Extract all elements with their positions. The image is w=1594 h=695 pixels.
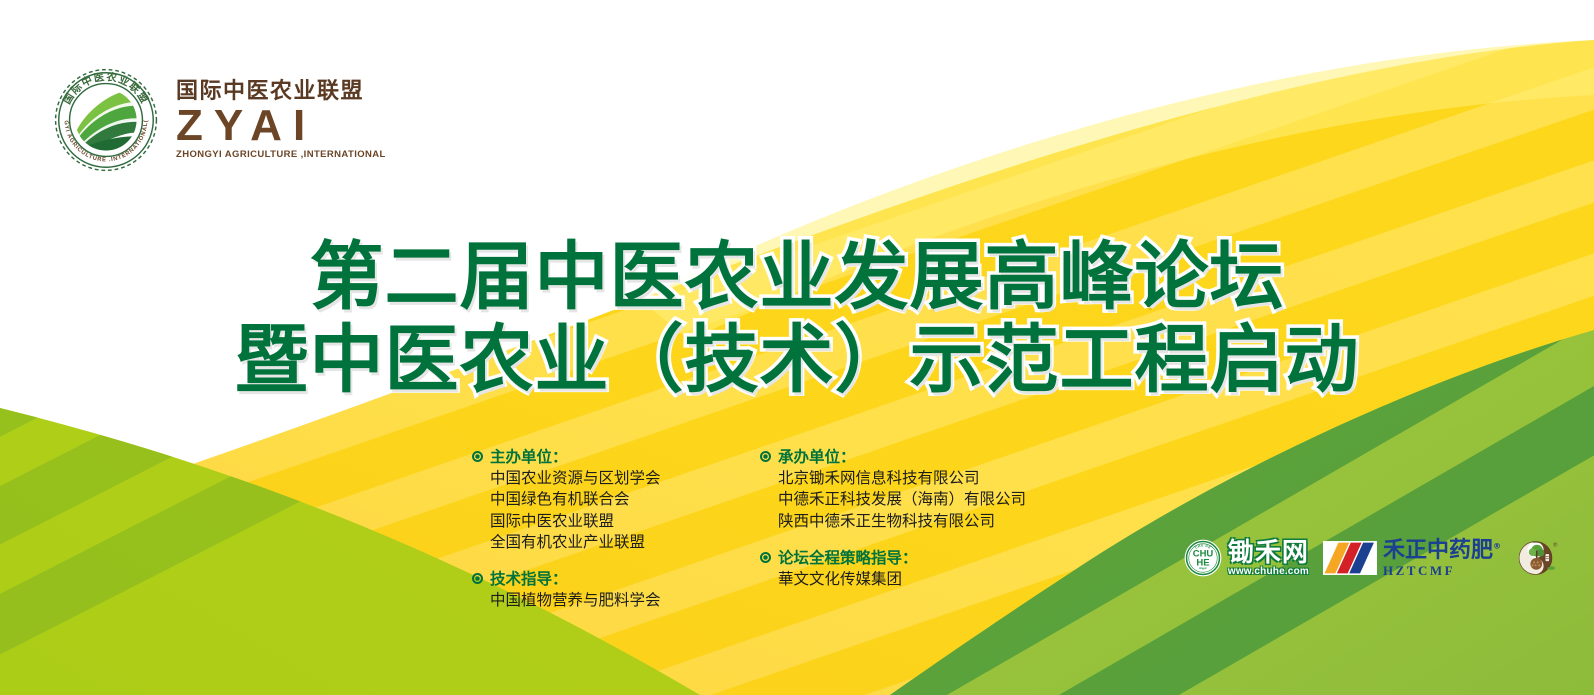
bullet-icon: [472, 573, 483, 584]
logo-acronym: ZYAI: [176, 105, 386, 147]
detail-heading-text: 承办单位：: [778, 447, 856, 468]
sponsor-chuhe[interactable]: CHU HE WWW CHU HE 锄禾网 www.chuhe.com: [1184, 539, 1309, 577]
list-item: 中国农业资源与区划学会: [490, 468, 744, 489]
detail-heading-text: 论坛全程策略指导：: [778, 548, 918, 569]
chuhe-circle-badge-icon: CHU HE WWW CHU HE: [1184, 539, 1222, 577]
hztcmf-stripe-mark-icon: [1323, 541, 1377, 575]
detail-heading-text: 技术指导：: [490, 569, 568, 590]
trademark-icon: ®: [1493, 541, 1501, 550]
chuhe-name: 锄禾网: [1228, 540, 1309, 566]
detail-items: 中国植物营养与肥料学会: [490, 590, 744, 611]
detail-items: 中国农业资源与区划学会 中国绿色有机联合会 国际中医农业联盟 全国有机农业产业联…: [490, 468, 744, 554]
zyai-emblem-icon: 国际中医农业联盟 ZHONGYI AGRICULTURE .INTERNATIO…: [52, 66, 160, 174]
sponsor-logos: CHU HE WWW CHU HE 锄禾网 www.chuhe.com: [1184, 528, 1559, 588]
detail-heading: 主办单位：: [472, 447, 744, 468]
detail-group-organizers: 主办单位： 中国农业资源与区划学会 中国绿色有机联合会 国际中医农业联盟 全国有…: [472, 447, 744, 553]
bullet-icon: [760, 451, 771, 462]
hztcmf-name-en: HZTCMF: [1383, 564, 1501, 577]
bullet-icon: [472, 451, 483, 462]
detail-heading: 承办单位：: [760, 447, 1032, 468]
list-item: 華文文化传媒集团: [778, 569, 1032, 590]
details-right-column: 承办单位： 北京锄禾网信息科技有限公司 中德禾正科技发展（海南）有限公司 陕西中…: [760, 447, 1032, 612]
detail-heading-text: 主办单位：: [490, 447, 568, 468]
logo-wordmark: 国际中医农业联盟 ZYAI ZHONGYI AGRICULTURE ,INTER…: [176, 81, 386, 159]
yinyang-tree-emblem-icon: ®: [1515, 536, 1559, 580]
detail-group-strategic-guidance: 论坛全程策略指导： 華文文化传媒集团: [760, 548, 1032, 590]
list-item: 全国有机农业产业联盟: [490, 532, 744, 553]
trademark-icon: ®: [1553, 541, 1558, 548]
list-item: 中德禾正科技发展（海南）有限公司: [778, 489, 1032, 510]
hztcmf-wordmark: 禾正中药肥® HZTCMF: [1383, 540, 1501, 577]
chuhe-wordmark: 锄禾网 www.chuhe.com: [1228, 540, 1309, 577]
list-item: 中国植物营养与肥料学会: [490, 590, 744, 611]
hztcmf-name-text: 禾正中药肥: [1383, 538, 1493, 563]
bullet-icon: [760, 552, 771, 563]
logo-chinese-name: 国际中医农业联盟: [176, 81, 386, 103]
hztcmf-name: 禾正中药肥®: [1383, 540, 1501, 562]
chuhe-url: www.chuhe.com: [1228, 567, 1309, 577]
list-item: 北京锄禾网信息科技有限公司: [778, 468, 1032, 489]
sponsor-yinyang-tree[interactable]: ®: [1515, 536, 1559, 580]
detail-group-technical-guidance: 技术指导： 中国植物营养与肥料学会: [472, 569, 744, 611]
details-section: 主办单位： 中国农业资源与区划学会 中国绿色有机联合会 国际中医农业联盟 全国有…: [472, 447, 1032, 612]
detail-heading: 技术指导：: [472, 569, 744, 590]
organization-logo[interactable]: 国际中医农业联盟 ZHONGYI AGRICULTURE .INTERNATIO…: [52, 66, 386, 174]
logo-english-name: ZHONGYI AGRICULTURE ,INTERNATIONAL: [176, 150, 386, 160]
detail-items: 北京锄禾网信息科技有限公司 中德禾正科技发展（海南）有限公司 陕西中德禾正生物科…: [778, 468, 1032, 532]
sponsor-hztcmf[interactable]: 禾正中药肥® HZTCMF: [1323, 540, 1501, 577]
list-item: 国际中医农业联盟: [490, 511, 744, 532]
conference-banner: 国际中医农业联盟 ZHONGYI AGRICULTURE .INTERNATIO…: [0, 0, 1594, 695]
list-item: 中国绿色有机联合会: [490, 489, 744, 510]
detail-heading: 论坛全程策略指导：: [760, 548, 1032, 569]
detail-items: 華文文化传媒集团: [778, 569, 1032, 590]
svg-text:HE: HE: [1196, 558, 1209, 569]
details-left-column: 主办单位： 中国农业资源与区划学会 中国绿色有机联合会 国际中医农业联盟 全国有…: [472, 447, 744, 612]
list-item: 陕西中德禾正生物科技有限公司: [778, 511, 1032, 532]
detail-group-hosts: 承办单位： 北京锄禾网信息科技有限公司 中德禾正科技发展（海南）有限公司 陕西中…: [760, 447, 1032, 532]
